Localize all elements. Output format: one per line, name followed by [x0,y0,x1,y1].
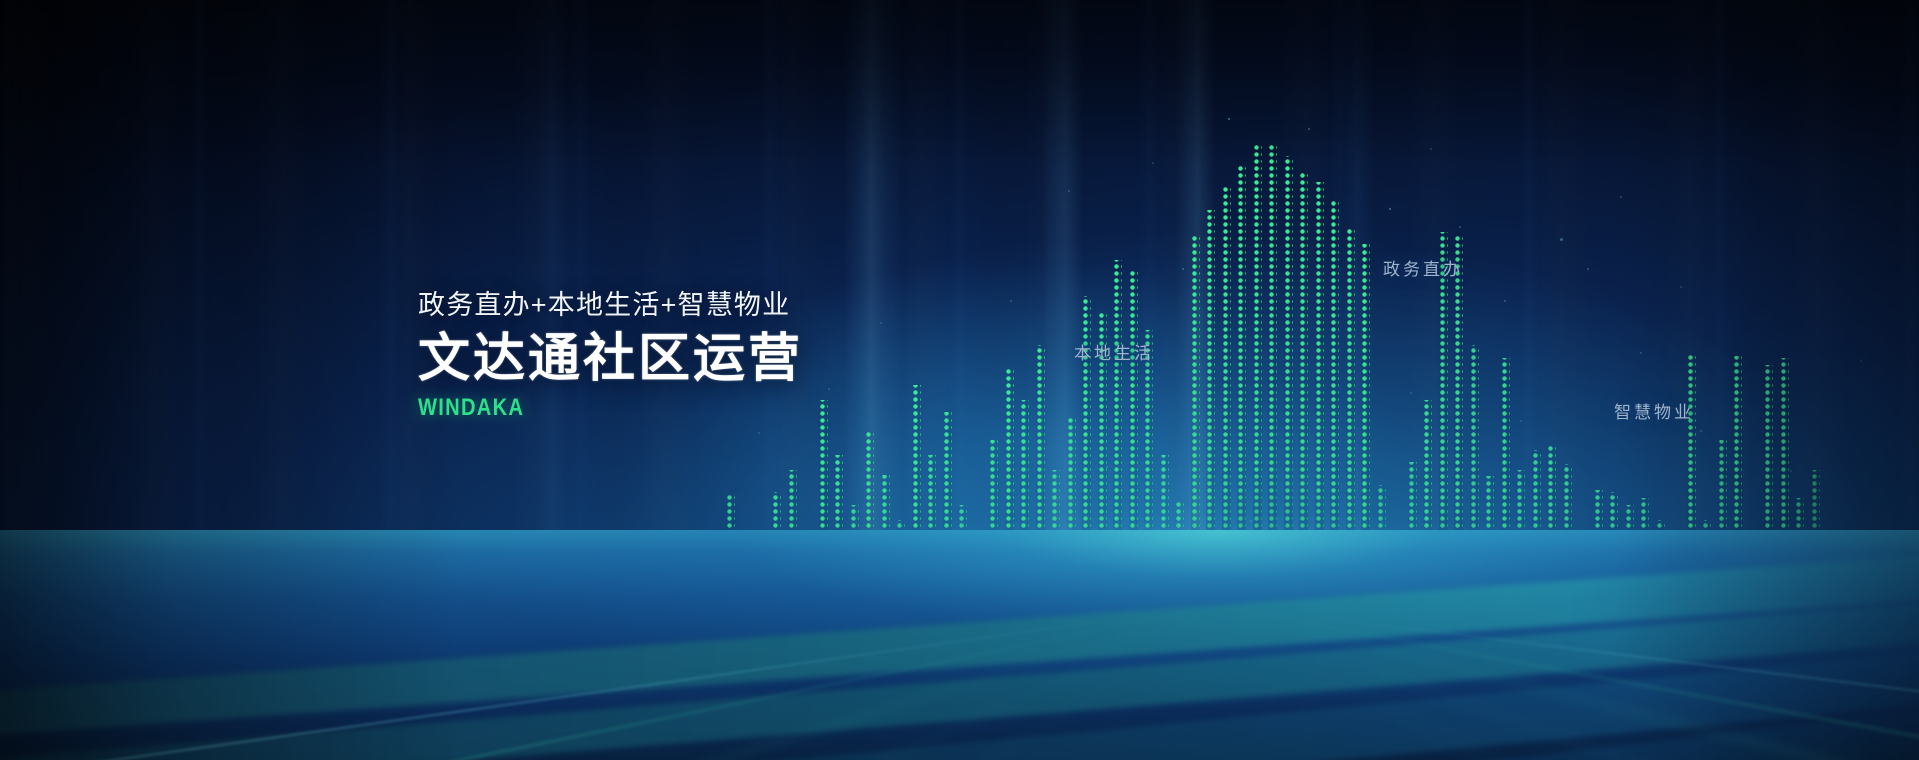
floating-label-1: 政务直办 [1383,255,1463,280]
headline-copy-block: 政务直办+本地生活+智慧物业 文达通社区运营 WINDAKA [418,292,803,420]
banner-title: 文达通社区运营 [418,333,803,385]
hero-banner: 政务直办本地生活智慧物业 政务直办+本地生活+智慧物业 文达通社区运营 WIND… [0,0,1919,760]
perspective-ground [0,530,1919,760]
brand-wordmark: WINDAKA [418,396,741,420]
banner-subtitle: 政务直办+本地生活+智慧物业 [418,292,803,319]
perspective-rays [0,530,1919,760]
floating-label-3: 智慧物业 [1614,398,1694,423]
floating-label-2: 本地生活 [1074,339,1154,364]
